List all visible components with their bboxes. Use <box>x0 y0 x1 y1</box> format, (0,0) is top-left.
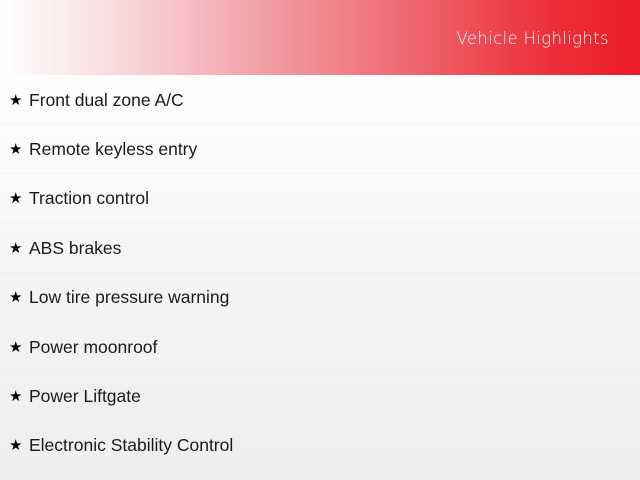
list-item: ★ Electronic Stability Control <box>0 421 640 470</box>
page-header-banner: Vehicle Highlights <box>0 0 640 75</box>
list-item: ★ Low tire pressure warning <box>0 273 640 322</box>
highlight-label: Power moonroof <box>29 336 157 358</box>
star-icon: ★ <box>9 437 29 453</box>
star-icon: ★ <box>9 190 29 206</box>
list-item: ★ Traction control <box>0 174 640 223</box>
list-item: ★ Power moonroof <box>0 322 640 371</box>
highlight-label: Front dual zone A/C <box>29 89 184 111</box>
highlight-label: Remote keyless entry <box>29 138 197 160</box>
list-item: ★ Front dual zone A/C <box>0 75 640 124</box>
star-icon: ★ <box>9 289 29 305</box>
page-title: Vehicle Highlights <box>457 29 610 49</box>
highlight-label: Electronic Stability Control <box>29 434 233 456</box>
highlight-label: Traction control <box>29 187 149 209</box>
star-icon: ★ <box>9 240 29 256</box>
star-icon: ★ <box>9 141 29 157</box>
star-icon: ★ <box>9 92 29 108</box>
highlight-label: Power Liftgate <box>29 385 141 407</box>
vehicle-highlights-list: ★ Front dual zone A/C ★ Remote keyless e… <box>0 75 640 470</box>
star-icon: ★ <box>9 339 29 355</box>
list-item: ★ Remote keyless entry <box>0 124 640 173</box>
list-item: ★ Power Liftgate <box>0 371 640 420</box>
vehicle-highlights-page: Vehicle Highlights ★ Front dual zone A/C… <box>0 0 640 480</box>
highlight-label: Low tire pressure warning <box>29 286 229 308</box>
star-icon: ★ <box>9 388 29 404</box>
list-item: ★ ABS brakes <box>0 223 640 272</box>
highlight-label: ABS brakes <box>29 237 121 259</box>
